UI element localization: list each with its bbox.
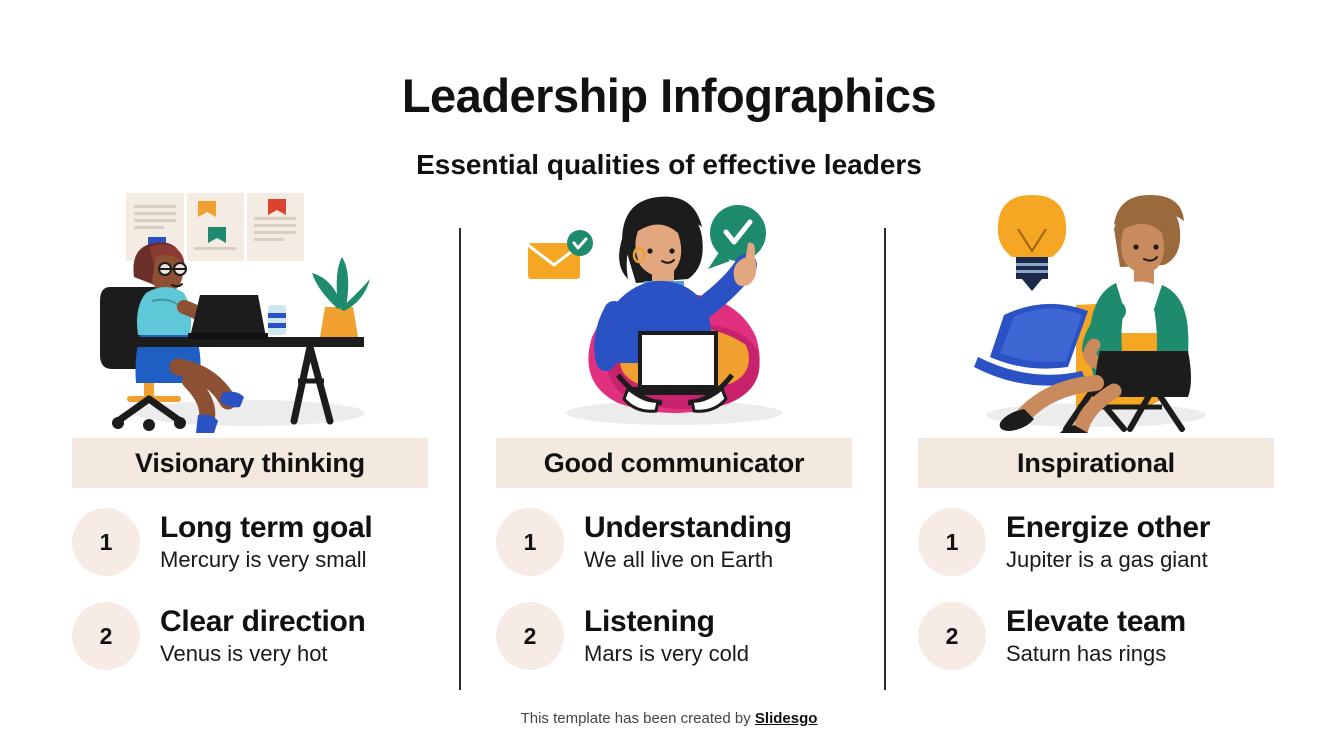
page-title: Leadership Infographics [0, 70, 1338, 122]
column-header-label: Inspirational [1017, 448, 1175, 479]
item-title: Understanding [584, 511, 792, 545]
item-number-badge: 1 [72, 508, 140, 576]
item-description: Saturn has rings [1006, 641, 1186, 667]
item-text: Clear direction Venus is very hot [160, 605, 366, 668]
column-header-inspirational: Inspirational [918, 438, 1274, 488]
item-description: Venus is very hot [160, 641, 366, 667]
item-title: Listening [584, 605, 749, 639]
item-title: Clear direction [160, 605, 366, 639]
item-text: Energize other Jupiter is a gas giant [1006, 511, 1210, 574]
item-text: Listening Mars is very cold [584, 605, 749, 668]
item-list: 1 Energize other Jupiter is a gas giant … [918, 508, 1274, 670]
column-header-label: Good communicator [544, 448, 805, 479]
item-text: Long term goal Mercury is very small [160, 511, 372, 574]
page-subtitle: Essential qualities of effective leaders [0, 148, 1338, 182]
footer-text: This template has been created by [521, 710, 755, 727]
column-header-visionary-thinking: Visionary thinking [72, 438, 428, 488]
list-item[interactable]: 1 Long term goal Mercury is very small [72, 508, 428, 576]
list-item[interactable]: 2 Clear direction Venus is very hot [72, 602, 428, 670]
item-title: Long term goal [160, 511, 372, 545]
list-item[interactable]: 2 Listening Mars is very cold [496, 602, 852, 670]
list-item[interactable]: 2 Elevate team Saturn has rings [918, 602, 1274, 670]
column-divider-1 [459, 228, 461, 690]
item-number-badge: 1 [496, 508, 564, 576]
item-description: We all live on Earth [584, 547, 792, 573]
item-number-badge: 2 [496, 602, 564, 670]
footer-attribution: This template has been created by Slides… [0, 710, 1338, 727]
item-list: 1 Understanding We all live on Earth 2 L… [496, 508, 852, 670]
slidesgo-link[interactable]: Slidesgo [755, 710, 818, 727]
column-inspirational: Inspirational 1 Energize other Jupiter i… [918, 185, 1274, 696]
item-description: Jupiter is a gas giant [1006, 547, 1210, 573]
list-item[interactable]: 1 Energize other Jupiter is a gas giant [918, 508, 1274, 576]
column-good-communicator: Good communicator 1 Understanding We all… [496, 185, 852, 696]
column-visionary-thinking: Visionary thinking 1 Long term goal Merc… [72, 185, 428, 696]
list-item[interactable]: 1 Understanding We all live on Earth [496, 508, 852, 576]
item-title: Elevate team [1006, 605, 1186, 639]
item-number-badge: 1 [918, 508, 986, 576]
slide-canvas: Leadership Infographics Essential qualit… [0, 0, 1338, 753]
item-number-badge: 2 [72, 602, 140, 670]
illustration-woman-on-chair-with-lightbulb [918, 185, 1274, 433]
item-description: Mercury is very small [160, 547, 372, 573]
column-header-good-communicator: Good communicator [496, 438, 852, 488]
column-divider-2 [884, 228, 886, 690]
item-title: Energize other [1006, 511, 1210, 545]
illustration-woman-on-beanbag-with-laptop [496, 185, 852, 433]
item-text: Elevate team Saturn has rings [1006, 605, 1186, 668]
item-number-badge: 2 [918, 602, 986, 670]
illustration-woman-at-desk-with-laptop [72, 185, 428, 433]
item-text: Understanding We all live on Earth [584, 511, 792, 574]
column-header-label: Visionary thinking [135, 448, 365, 479]
item-list: 1 Long term goal Mercury is very small 2… [72, 508, 428, 670]
item-description: Mars is very cold [584, 641, 749, 667]
